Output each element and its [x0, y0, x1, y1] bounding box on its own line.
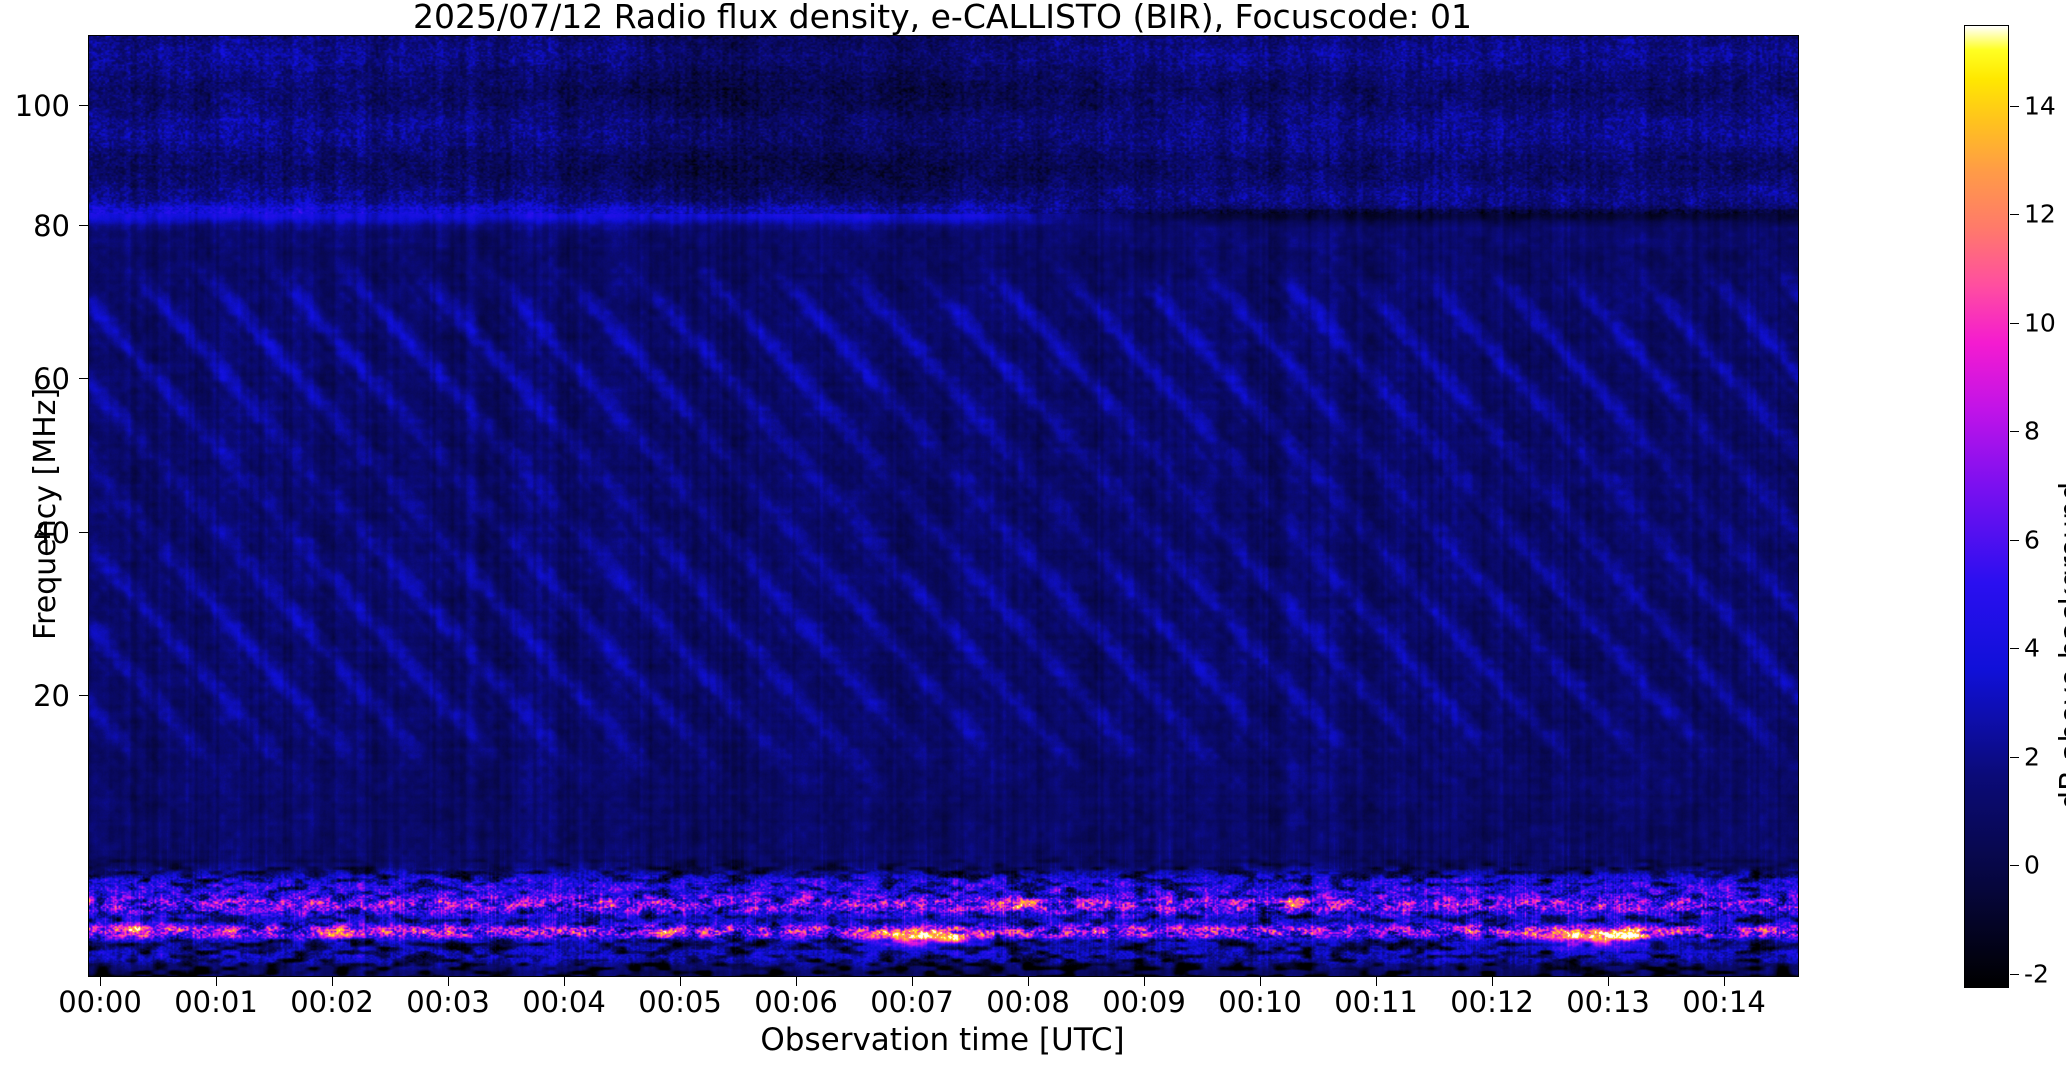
cbtick-label-10: 10 [2024, 309, 2056, 338]
ytick-label-20: 20 [0, 679, 70, 713]
cbtick-label-2: 2 [2024, 743, 2040, 772]
ytick-mark-40 [79, 532, 88, 533]
page-title: 2025/07/12 Radio flux density, e-CALLIST… [88, 0, 1797, 36]
cbtick-mark-4 [2010, 648, 2019, 649]
cbtick-label-0: 0 [2024, 851, 2040, 880]
cbtick-mark-8 [2010, 431, 2019, 432]
cbtick-label-12: 12 [2024, 200, 2056, 229]
xtick-label-14: 00:14 [1682, 985, 1766, 1019]
cbtick-label-14: 14 [2024, 92, 2056, 121]
ytick-mark-100 [79, 105, 88, 106]
cbtick-mark-2 [2010, 757, 2019, 758]
colorbar[interactable] [1964, 25, 2009, 988]
ytick-mark-20 [79, 695, 88, 696]
spectrogram-figure: 2025/07/12 Radio flux density, e-CALLIST… [0, 0, 2066, 1067]
xtick-label-11: 00:11 [1334, 985, 1418, 1019]
colorbar-label: dB above background [2054, 482, 2066, 810]
y-axis-label: Frequency [MHz] [28, 388, 63, 640]
cbtick-label-8: 8 [2024, 417, 2040, 446]
xtick-label-4: 00:04 [522, 985, 606, 1019]
plot-axes[interactable] [88, 35, 1799, 977]
xtick-label-2: 00:02 [290, 985, 374, 1019]
cbtick-mark-minus2 [2010, 974, 2019, 975]
cbtick-mark-0 [2010, 865, 2019, 866]
xtick-label-10: 00:10 [1218, 985, 1302, 1019]
xtick-label-3: 00:03 [406, 985, 490, 1019]
xtick-label-0: 00:00 [58, 985, 142, 1019]
ytick-mark-60 [79, 378, 88, 379]
xtick-label-12: 00:12 [1450, 985, 1534, 1019]
cbtick-label-6: 6 [2024, 526, 2040, 555]
spectrogram-image [89, 36, 1798, 976]
ytick-mark-80 [79, 225, 88, 226]
cbtick-mark-14 [2010, 106, 2019, 107]
ytick-label-100: 100 [0, 89, 70, 123]
colorbar-gradient [1964, 25, 2009, 988]
xtick-label-7: 00:07 [870, 985, 954, 1019]
cbtick-mark-12 [2010, 214, 2019, 215]
cbtick-label-4: 4 [2024, 634, 2040, 663]
x-axis-label: Observation time [UTC] [88, 1022, 1797, 1058]
xtick-label-5: 00:05 [638, 985, 722, 1019]
cbtick-mark-10 [2010, 323, 2019, 324]
xtick-label-1: 00:01 [174, 985, 258, 1019]
xtick-label-13: 00:13 [1566, 985, 1650, 1019]
ytick-label-80: 80 [0, 209, 70, 243]
xtick-label-9: 00:09 [1102, 985, 1186, 1019]
xtick-label-6: 00:06 [754, 985, 838, 1019]
xtick-label-8: 00:08 [986, 985, 1070, 1019]
cbtick-label-minus2: -2 [2024, 960, 2049, 989]
cbtick-mark-6 [2010, 540, 2019, 541]
